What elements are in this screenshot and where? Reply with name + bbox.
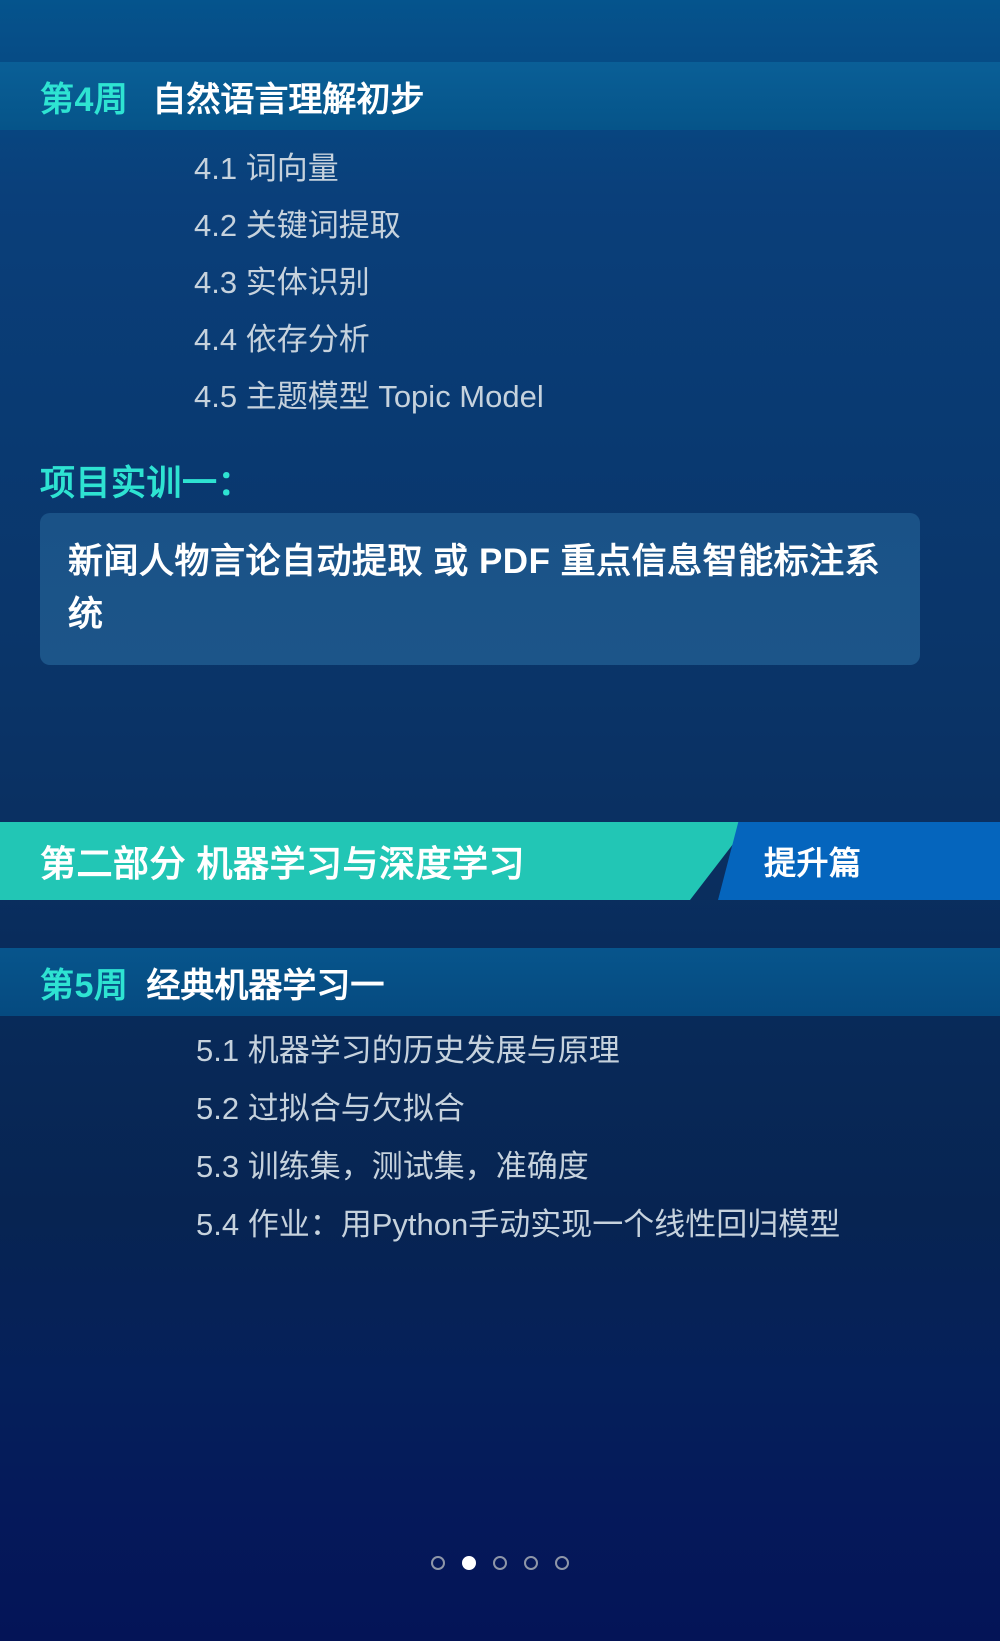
pagination-dot-3[interactable] <box>493 1556 507 1570</box>
pagination-dots <box>0 1556 1000 1570</box>
project-training-box: 新闻人物言论自动提取 或 PDF 重点信息智能标注系统 <box>40 513 920 665</box>
list-item: 5.2 过拟合与欠拟合 <box>196 1080 940 1138</box>
pagination-dot-2[interactable] <box>462 1556 476 1570</box>
pagination-dot-4[interactable] <box>524 1556 538 1570</box>
week5-item-list: 5.1 机器学习的历史发展与原理 5.2 过拟合与欠拟合 5.3 训练集，测试集… <box>0 1022 1000 1254</box>
list-item: 4.2 关键词提取 <box>194 197 940 254</box>
list-item: 5.3 训练集，测试集，准确度 <box>196 1138 940 1196</box>
part-banner-title-area: 第二部分 机器学习与深度学习 <box>0 822 750 900</box>
pagination-dot-5[interactable] <box>555 1556 569 1570</box>
week5-title: 经典机器学习一 <box>146 958 384 1007</box>
week4-number: 第4周 <box>40 72 128 121</box>
part-banner-tag: 提升篇 <box>764 838 862 884</box>
part-banner-title: 第二部分 机器学习与深度学习 <box>40 835 525 887</box>
project-training-text: 新闻人物言论自动提取 或 PDF 重点信息智能标注系统 <box>68 535 892 641</box>
part-banner: 第二部分 机器学习与深度学习 提升篇 <box>0 822 1000 900</box>
slide-page: 第4周 自然语言理解初步 4.1 词向量 4.2 关键词提取 4.3 实体识别 … <box>0 0 1000 1641</box>
list-item: 4.1 词向量 <box>194 140 940 197</box>
list-item: 5.1 机器学习的历史发展与原理 <box>196 1022 940 1080</box>
list-item: 4.4 依存分析 <box>194 311 940 368</box>
part-banner-tag-area: 提升篇 <box>718 822 1000 900</box>
week-header-week4: 第4周 自然语言理解初步 <box>0 62 1000 130</box>
list-item: 4.3 实体识别 <box>194 254 940 311</box>
week-header-week5: 第5周 经典机器学习一 <box>0 948 1000 1016</box>
project-training-label: 项目实训一： <box>40 455 253 506</box>
list-item: 5.4 作业：用Python手动实现一个线性回归模型 <box>196 1196 940 1254</box>
week4-item-list: 4.1 词向量 4.2 关键词提取 4.3 实体识别 4.4 依存分析 4.5 … <box>0 140 1000 425</box>
week5-number: 第5周 <box>40 958 128 1007</box>
week4-title: 自然语言理解初步 <box>152 72 424 121</box>
list-item: 4.5 主题模型 Topic Model <box>194 368 940 425</box>
pagination-dot-1[interactable] <box>431 1556 445 1570</box>
